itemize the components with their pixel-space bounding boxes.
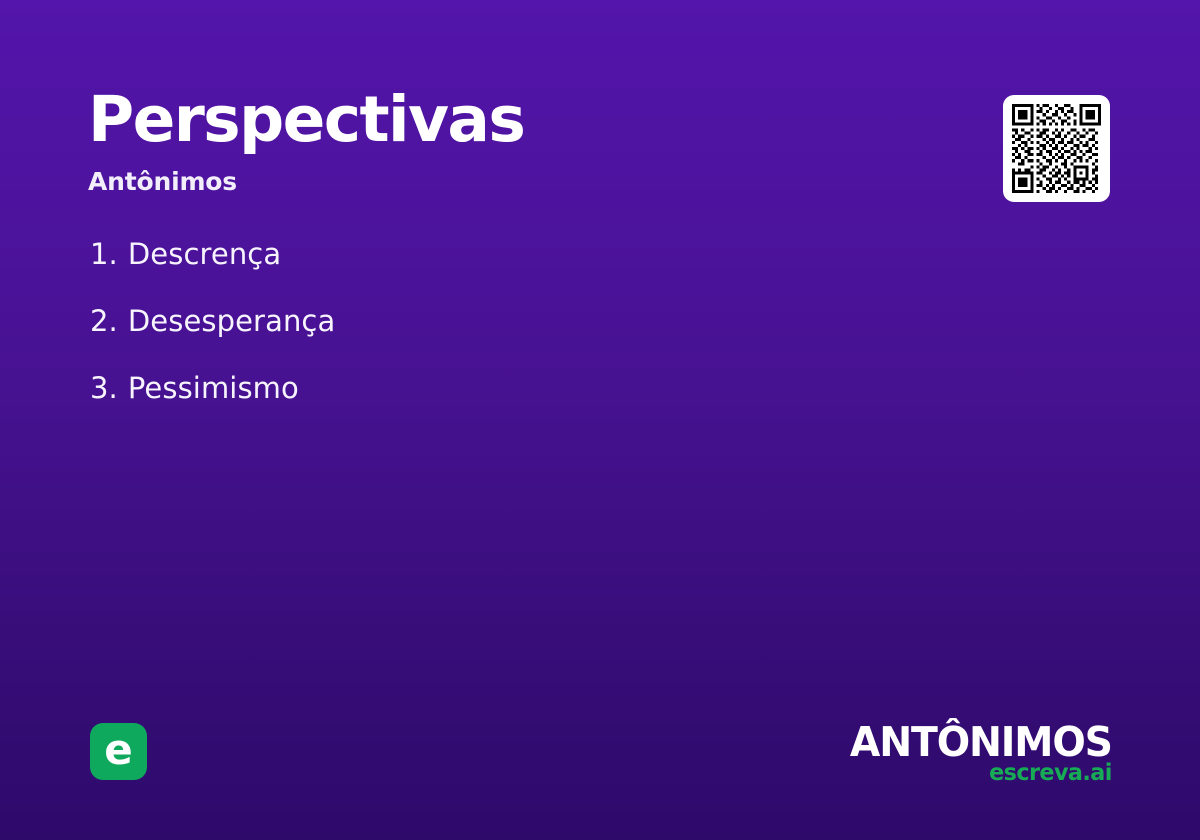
qr-code-icon: [1012, 104, 1101, 193]
wordmark-domain: escreva.ai: [847, 760, 1112, 786]
slide-canvas: Perspectivas Antônimos 1. Descrença 2. D…: [0, 0, 1200, 840]
list-item: 2. Desesperança: [90, 304, 850, 371]
list-item-index: 1.: [90, 237, 118, 271]
list-item: 1. Descrença: [90, 237, 850, 304]
antonym-list: 1. Descrença 2. Desesperança 3. Pessimis…: [90, 237, 850, 438]
header: Perspectivas Antônimos: [88, 88, 788, 196]
wordmark: ANTÔNIMOS escreva.ai: [839, 722, 1112, 786]
wordmark-title: ANTÔNIMOS: [850, 722, 1112, 762]
escreva-e-logo-icon[interactable]: e: [90, 723, 147, 780]
page-title: Perspectivas: [88, 88, 788, 151]
qr-code-card[interactable]: [1003, 95, 1110, 202]
list-item-label: Desesperança: [128, 304, 335, 338]
brand-mark-letter: e: [104, 729, 133, 771]
list-item-label: Pessimismo: [128, 371, 299, 405]
list-item: 3. Pessimismo: [90, 371, 850, 438]
page-subtitle: Antônimos: [88, 167, 788, 196]
list-item-index: 3.: [90, 371, 118, 405]
list-item-index: 2.: [90, 304, 118, 338]
list-item-label: Descrença: [128, 237, 281, 271]
